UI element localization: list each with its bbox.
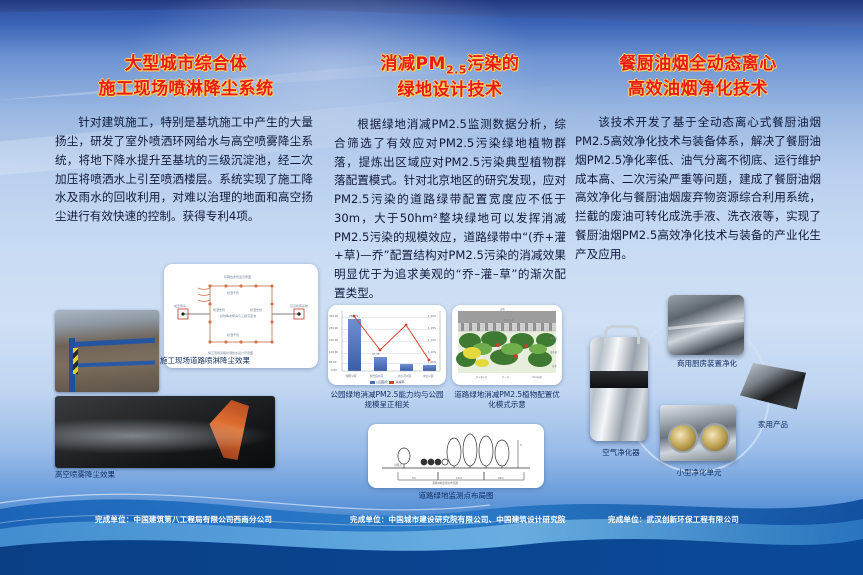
svg-text:1.06%: 1.06% — [428, 360, 437, 364]
column-3-body: 该技术开发了基于全动态离心式餐厨油烟PM2.5高效净化技术与装备体系，解决了餐厨… — [575, 113, 821, 263]
column-1-title-line1: 大型城市综合体 — [46, 52, 326, 77]
column-1-body: 针对建筑施工，特别是基坑施工中产生的大量扬尘，研发了室外喷洒环网给水与高空喷雾降… — [55, 113, 313, 226]
small-purification-unit-product — [660, 405, 736, 461]
svg-text:30m绿带: 30m绿带 — [532, 375, 543, 379]
column-1: 大型城市综合体 施工现场喷淋降尘系统 针对建筑施工，特别是基坑施工中产生的大量扬… — [46, 52, 326, 226]
column-2-body: 根据绿地消减PM2.5监测数据分析，综合筛选了有效应对PM2.5污染绿地植物群落… — [334, 115, 566, 303]
svg-text:1.10%: 1.10% — [428, 350, 437, 354]
svg-text:施工现场道路喷洒给水设计示意图: 施工现场道路喷洒给水设计示意图 — [208, 350, 253, 355]
svg-text:1.20%: 1.20% — [428, 314, 437, 318]
column-1-title: 大型城市综合体 施工现场喷淋降尘系统 — [46, 52, 326, 101]
svg-text:灌木层: 灌木层 — [550, 350, 558, 354]
column-3-title-line2: 高效油烟净化技术 — [570, 77, 826, 102]
svg-text:喷洒支管: 喷洒支管 — [250, 307, 262, 312]
svg-text:加压泵房: 加压泵房 — [174, 303, 186, 308]
column-3-title-line1: 餐厨油烟全动态离心 — [570, 52, 826, 77]
svg-text:基坑降水泵房与三级沉淀池: 基坑降水泵房与三级沉淀池 — [220, 313, 256, 318]
legend-bar-label: 公园面积 — [376, 380, 388, 384]
svg-text:1.18%: 1.18% — [428, 326, 437, 330]
park-chart: 300.00250.00150.00 100.0050.000.00 1.20%… — [328, 305, 446, 385]
footer-unit-3: 完成单位：武汉创新环保工程有限公司 — [608, 514, 739, 525]
svg-text:1.02%: 1.02% — [428, 368, 437, 372]
site-road-photo — [55, 310, 159, 392]
chart-line-series: 300.00250.00150.00 100.0050.000.00 1.20%… — [328, 305, 446, 385]
svg-text:喷洒干管: 喷洒干管 — [227, 332, 239, 337]
column-3: 餐厨油烟全动态离心 高效油烟净化技术 该技术开发了基于全动态离心式餐厨油烟PM2… — [570, 52, 826, 264]
column-2-title-line2: 绿地设计技术 — [330, 78, 570, 103]
column-2: 消减PM2.5污染的 绿地设计技术 根据绿地消减PM2.5监测数据分析，综合筛选… — [330, 52, 570, 303]
svg-text:机动车道: 机动车道 — [504, 318, 514, 322]
poster-canvas: 大型城市综合体 施工现场喷淋降尘系统 针对建筑施工，特别是基坑施工中产生的大量扬… — [0, 0, 863, 575]
svg-text:喷洒支管: 喷洒支管 — [213, 307, 225, 312]
footer-unit-2: 完成单位：中国城市建设研究院有限公司、中国建筑设计研究院 — [350, 514, 566, 525]
air-purifier-label: 空气净化器 — [584, 447, 658, 458]
commercial-kitchen-product — [668, 295, 744, 355]
svg-text:H: H — [520, 443, 522, 447]
svg-text:100.00: 100.00 — [329, 350, 338, 354]
water-network-schematic-icon: 环网给水管道示意图 喷洒干管 喷洒支管 喷洒支管 基坑降水泵房与三级沉淀池 喷洒… — [164, 264, 318, 368]
svg-text:道路: 道路 — [500, 307, 505, 311]
svg-text:北小河公园: 北小河公园 — [398, 374, 411, 378]
svg-text:150.00: 150.00 — [329, 338, 338, 342]
svg-text:0.00: 0.00 — [331, 368, 337, 372]
svg-text:喷洒干管: 喷洒干管 — [227, 290, 239, 295]
svg-text:50.00: 50.00 — [329, 360, 337, 364]
park-chart-caption: 公园绿地消减PM2.5能力均与公园规模呈正相关 — [328, 390, 446, 410]
svg-text:250.00: 250.00 — [329, 326, 338, 330]
planting-model-caption: 道路绿地消减PM2.5植物配置优化模式示意 — [452, 390, 562, 410]
column-1-title-line2: 施工现场喷淋降尘系统 — [46, 77, 326, 102]
column-3-title: 餐厨油烟全动态离心 高效油烟净化技术 — [570, 52, 826, 101]
column-2-title: 消减PM2.5污染的 绿地设计技术 — [330, 52, 570, 103]
svg-text:草本: 草本 — [552, 364, 557, 368]
commercial-kitchen-label: 商用厨房装置净化 — [662, 358, 752, 369]
svg-text:中山公园: 中山公园 — [423, 374, 434, 378]
planting-model-illustration-icon: 道路机动车道 乔木层灌木层草本 乔+灌+草乔—乔30m绿带 — [452, 305, 562, 385]
park-chart-plot: 300.00250.00150.00 100.0050.000.00 1.20%… — [328, 305, 446, 385]
legend-line-label: 消减率 — [395, 380, 404, 384]
site-road-photo-caption: 施工现场道路喷淋降尘效果 — [160, 356, 300, 366]
planting-model-image: 道路机动车道 乔木层灌木层草本 乔+灌+草乔—乔30m绿带 — [452, 305, 562, 385]
svg-text:288.70: 288.70 — [349, 314, 358, 318]
svg-text:乔+灌+草: 乔+灌+草 — [476, 375, 488, 379]
svg-text:高空喷雾系统: 高空喷雾系统 — [290, 303, 308, 308]
column-2-title-line1: 消减PM2.5污染的 — [330, 52, 570, 78]
high-altitude-photo — [55, 396, 275, 468]
chart-legend: 公园面积 消减率 — [328, 380, 446, 384]
svg-text:乔木层: 乔木层 — [550, 336, 558, 340]
svg-text:乔—乔: 乔—乔 — [502, 375, 510, 379]
svg-text:环网给水管道示意图: 环网给水管道示意图 — [224, 274, 251, 279]
svg-text:47.35: 47.35 — [372, 352, 380, 356]
home-product-label: 家用产品 — [742, 419, 804, 430]
svg-text:朝阳公园: 朝阳公园 — [346, 374, 357, 378]
svg-text:300.00: 300.00 — [329, 314, 338, 318]
svg-text:1.14%: 1.14% — [428, 338, 437, 342]
svg-text:紫竹院公园: 紫竹院公园 — [370, 374, 383, 378]
schematic-card: 环网给水管道示意图 喷洒干管 喷洒支管 喷洒支管 基坑降水泵房与三级沉淀池 喷洒… — [164, 264, 318, 368]
footer-unit-1: 完成单位：中国建筑第八工程局有限公司西南分公司 — [95, 514, 272, 525]
air-purifier-product — [590, 337, 648, 441]
